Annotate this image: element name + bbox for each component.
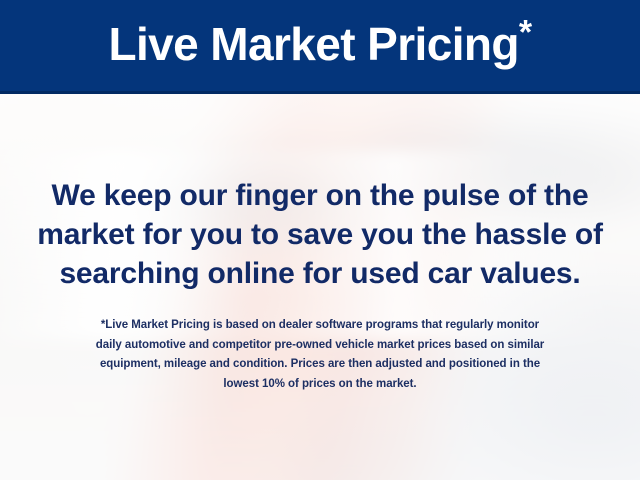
disclaimer-fineprint: *Live Market Pricing is based on dealer …: [30, 316, 610, 394]
disclaimer-line-3: equipment, mileage and condition. Prices…: [30, 355, 610, 375]
disclaimer-line-2: daily automotive and competitor pre-owne…: [30, 336, 610, 356]
page-title-text: Live Market Pricing: [108, 18, 518, 70]
page-title: Live Market Pricing*: [108, 21, 531, 71]
headline-line-1: We keep our finger on the pulse of the: [0, 176, 640, 215]
headline-line-3: searching online for used car values.: [0, 254, 640, 293]
disclaimer-line-1: *Live Market Pricing is based on dealer …: [30, 316, 610, 336]
headline: We keep our finger on the pulse of the m…: [0, 176, 640, 293]
header-banner: Live Market Pricing*: [0, 0, 640, 94]
headline-line-2: market for you to save you the hassle of: [0, 215, 640, 254]
page-title-asterisk: *: [519, 13, 532, 51]
live-market-pricing-promo: Live Market Pricing* We keep our finger …: [0, 0, 640, 480]
disclaimer-line-4: lowest 10% of prices on the market.: [30, 375, 610, 395]
